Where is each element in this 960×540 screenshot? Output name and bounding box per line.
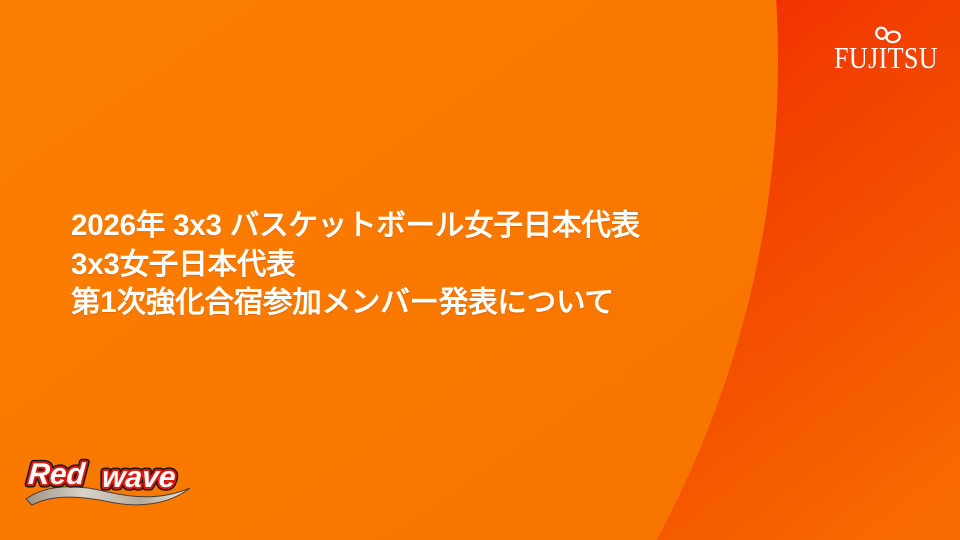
fujitsu-logo: FUJITSU — [832, 16, 940, 76]
red-wave-word-red: Red — [27, 458, 87, 491]
red-wave-logo: Red wave Red wave Red wave — [22, 450, 212, 512]
title-line-2: 3x3女子日本代表 — [71, 246, 871, 285]
fujitsu-logo-graphic: FUJITSU — [832, 16, 940, 76]
title-line-3: 第1次強化合宿参加メンバー発表について — [71, 284, 871, 323]
title-slide: FUJITSU 2026年 3x3 バスケットボール女子日本代表 3x3女子日本… — [0, 0, 960, 540]
title-line-1: 2026年 3x3 バスケットボール女子日本代表 — [71, 207, 871, 246]
red-wave-wordmark: Red wave Red wave Red wave — [27, 458, 176, 494]
red-wave-word-wave: wave — [101, 461, 177, 494]
slide-title: 2026年 3x3 バスケットボール女子日本代表 3x3女子日本代表 第1次強化… — [71, 207, 871, 323]
red-wave-logo-graphic: Red wave Red wave Red wave — [22, 450, 212, 512]
fujitsu-wordmark: FUJITSU — [834, 40, 938, 75]
